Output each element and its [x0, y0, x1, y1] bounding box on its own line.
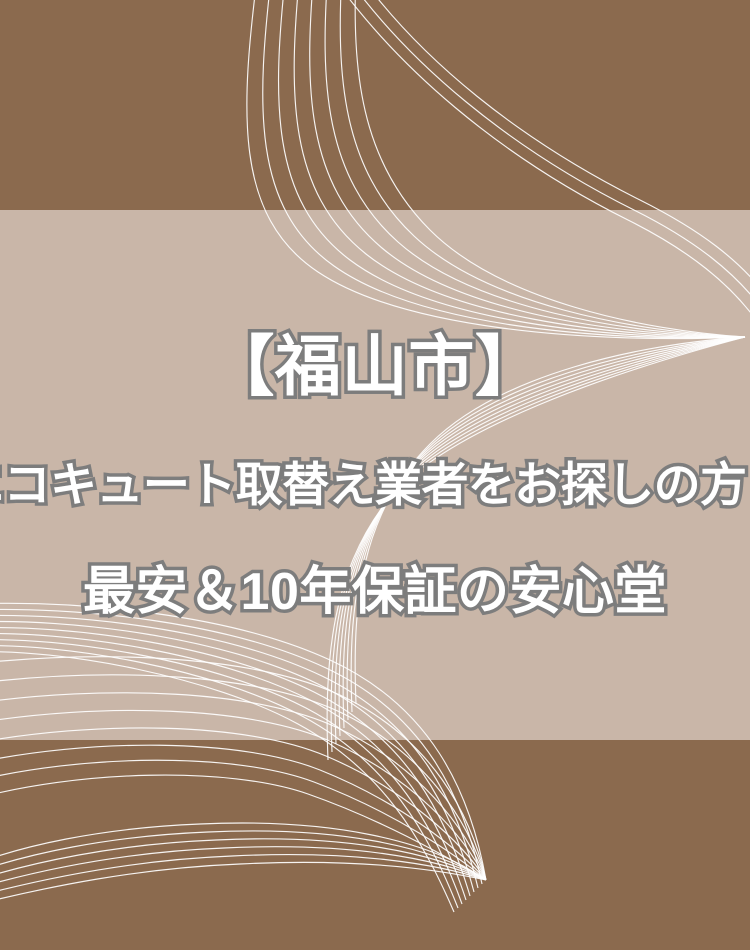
headline-line-service: エコキュート取替え業者をお探しの方！	[0, 461, 750, 508]
bottom-brown-band	[0, 740, 750, 950]
headline-block: 【福山市】 エコキュート取替え業者をお探しの方！ 最安＆10年保証の安心堂	[0, 210, 750, 740]
headline-line-city: 【福山市】	[208, 333, 541, 399]
headline-line-guarantee: 最安＆10年保証の安心堂	[83, 566, 667, 618]
poster-canvas: 【福山市】 エコキュート取替え業者をお探しの方！ 最安＆10年保証の安心堂	[0, 0, 750, 950]
top-brown-band	[0, 0, 750, 210]
